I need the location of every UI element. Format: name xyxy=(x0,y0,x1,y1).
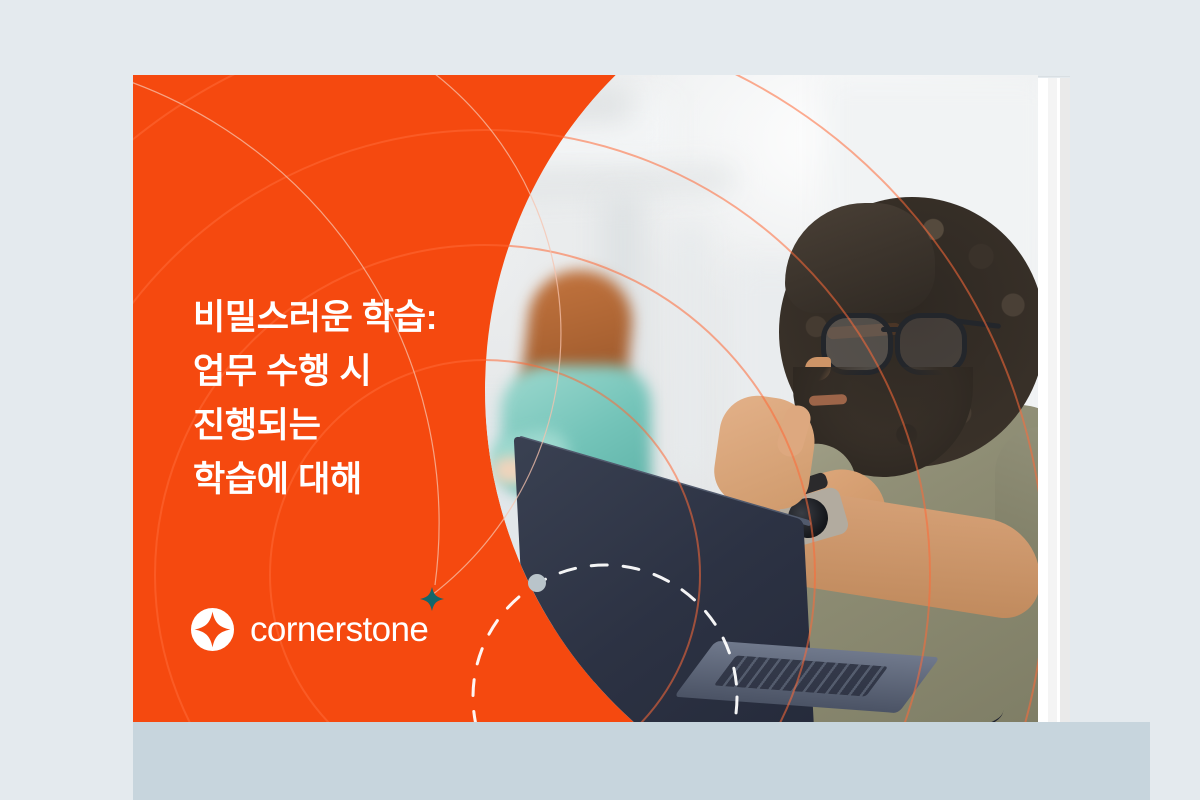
page-stack-edge-1 xyxy=(1038,78,1048,722)
man-lip xyxy=(809,394,847,406)
background-ceiling-beam-2 xyxy=(433,166,734,202)
eyeglasses-left-lens xyxy=(821,313,893,375)
cover-title: 비밀스러운 학습: 업무 수행 시 진행되는 학습에 대해 xyxy=(193,291,553,507)
cover-slide[interactable]: 비밀스러운 학습: 업무 수행 시 진행되는 학습에 대해 cornerston… xyxy=(133,75,1038,722)
background-light-fixture xyxy=(283,212,494,257)
document-viewer: 비밀스러운 학습: 업무 수행 시 진행되는 학습에 대해 cornerston… xyxy=(0,0,1200,800)
page-band-left-gap xyxy=(0,722,133,800)
page-stack-hairline xyxy=(1038,76,1070,77)
page-stack-edge-4 xyxy=(1060,78,1070,722)
eyeglasses-bridge xyxy=(881,327,899,332)
cornerstone-sparkle-icon xyxy=(191,608,234,651)
page-band-right-gap xyxy=(1150,722,1200,800)
next-page-band xyxy=(0,722,1200,800)
man-hairline xyxy=(785,203,935,313)
background-column-2 xyxy=(673,225,707,475)
cornerstone-logo[interactable]: cornerstone xyxy=(191,608,428,651)
cornerstone-wordmark: cornerstone xyxy=(250,612,428,647)
page-stack-edge-2 xyxy=(1048,78,1057,722)
